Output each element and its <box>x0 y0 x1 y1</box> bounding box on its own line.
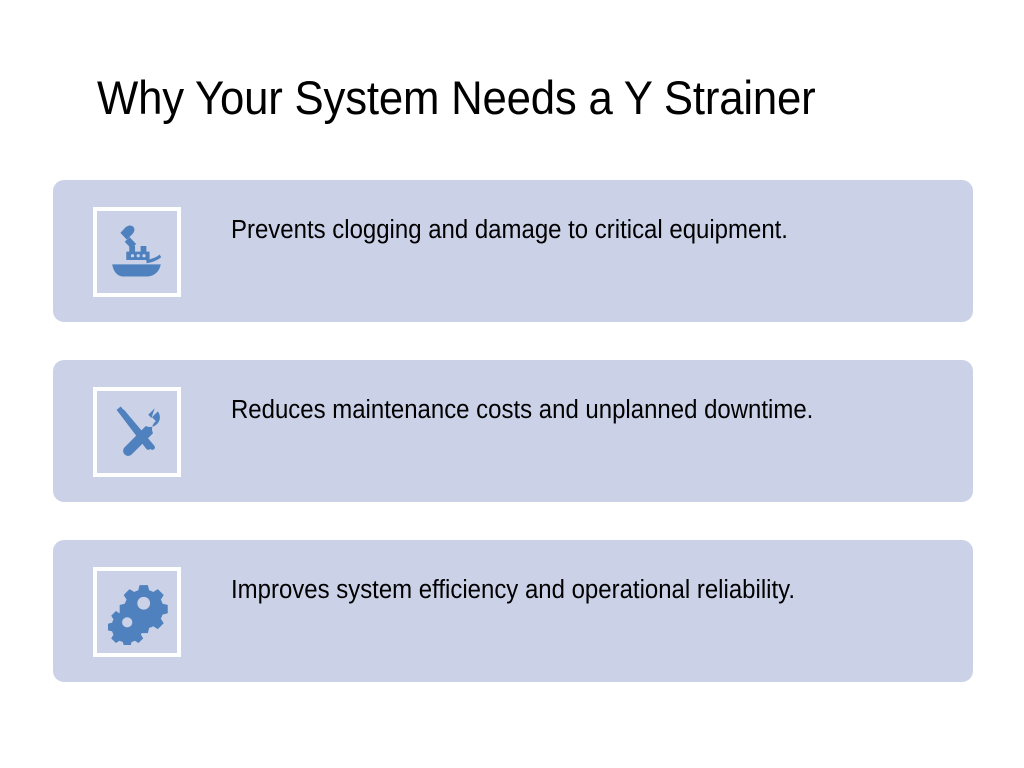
benefit-card-text: Prevents clogging and damage to critical… <box>231 208 889 252</box>
benefit-card-list: Prevents clogging and damage to critical… <box>53 180 973 682</box>
page-title: Why Your System Needs a Y Strainer <box>97 62 878 134</box>
slide-canvas: Why Your System Needs a Y Strainer <box>0 0 1024 768</box>
icon-frame <box>93 207 181 297</box>
benefit-card[interactable]: Improves system efficiency and operation… <box>53 540 973 682</box>
gears-icon <box>104 579 170 645</box>
benefit-card-text: Reduces maintenance costs and unplanned … <box>231 388 889 432</box>
benefit-card[interactable]: Prevents clogging and damage to critical… <box>53 180 973 322</box>
icon-frame <box>93 567 181 657</box>
icon-frame <box>93 387 181 477</box>
ship-icon <box>104 219 170 285</box>
benefit-card-text: Improves system efficiency and operation… <box>231 568 889 612</box>
benefit-card[interactable]: Reduces maintenance costs and unplanned … <box>53 360 973 502</box>
wrench-screwdriver-icon <box>104 399 170 465</box>
